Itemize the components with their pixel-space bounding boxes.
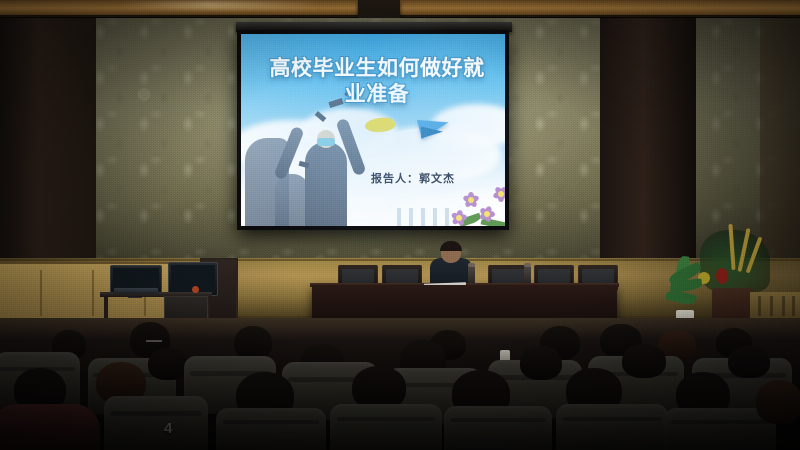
cosmos-flower-graphic [451,210,467,226]
wall-pillar-far-right [760,18,800,276]
cosmos-flower-graphic [479,206,499,226]
eyeglasses [146,340,162,346]
cosmos-flower-graphic [463,192,479,208]
slide-title: 高校毕业生如何做好就 业准备 [249,56,505,108]
paper-airplane-fin [421,126,443,139]
keyboard [114,288,158,294]
graduate-body [305,142,347,226]
beam-highlight [120,1,320,9]
audience-shoulders [0,404,100,450]
slide-content: 高校毕业生如何做好就 业准备 报告人：郭文杰 [241,34,505,226]
audience-head [234,326,272,360]
side-railing [750,292,800,320]
wall-pillar-right [600,18,696,276]
audience-seat[interactable] [556,404,668,450]
projection-screen: 高校毕业生如何做好就 业准备 报告人：郭文杰 [237,30,509,230]
audience-head [728,346,770,378]
building-base [391,206,459,226]
audience-head [148,348,188,380]
lecture-hall-photo: 高校毕业生如何做好就 业准备 报告人：郭文杰 [0,0,800,450]
graduate-silhouette [275,174,309,226]
audience-seat[interactable] [330,404,442,450]
cosmos-flower-graphic [493,186,505,202]
slide-presenter-line: 报告人：郭文杰 [371,170,501,186]
audience-head [756,380,800,424]
building-roof [389,194,461,206]
audience-head [622,344,666,378]
indicator-light [192,286,199,293]
red-flower [716,268,728,284]
audience-head [520,346,562,380]
audience-seat[interactable] [444,406,552,450]
wall-pillar-left [0,18,96,276]
seat-number-label: 4 [164,420,173,437]
audience-seat[interactable] [104,396,208,450]
graduate-face-mask [317,138,335,146]
audience-seat[interactable] [216,408,326,450]
